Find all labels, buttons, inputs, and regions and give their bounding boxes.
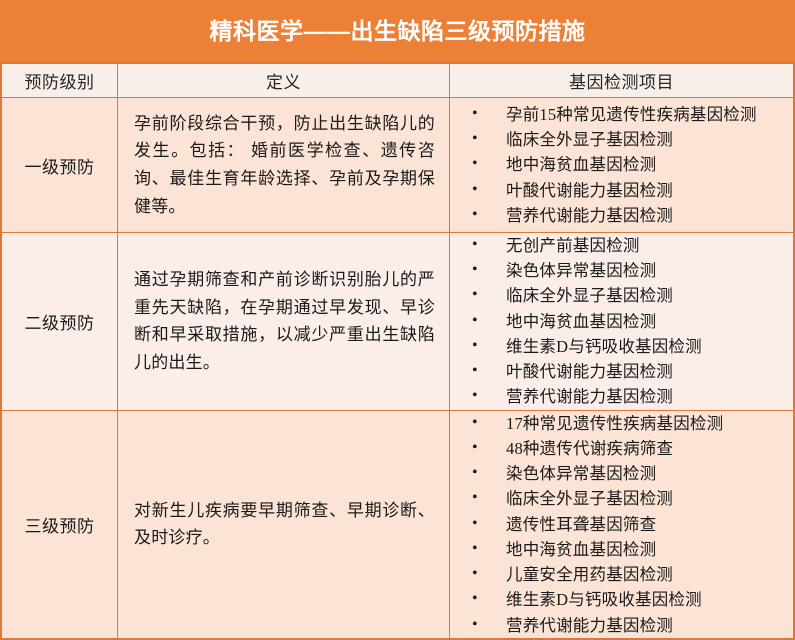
list-item: •营养代谢能力基因检测 <box>458 613 787 638</box>
list-item-label: 儿童安全用药基因检测 <box>506 565 673 584</box>
list-item-label: 营养代谢能力基因检测 <box>506 616 673 635</box>
list-item-label: 营养代谢能力基因检测 <box>506 387 673 406</box>
list-item: •遗传性耳聋基因筛查 <box>458 512 787 537</box>
row-definition-cell: 通过孕期筛查和产前诊断识别胎儿的严重先天缺陷，在孕期通过早发现、早诊断和早采取措… <box>118 233 450 410</box>
bullet-icon: • <box>472 562 478 586</box>
bullet-icon: • <box>472 461 478 485</box>
list-item-label: 临床全外显子基因检测 <box>506 286 673 305</box>
list-item: •染色体异常基因检测 <box>458 461 787 486</box>
bullet-icon: • <box>472 486 478 510</box>
list-item-label: 地中海贫血基因检测 <box>506 155 656 174</box>
bullet-icon: • <box>472 233 478 257</box>
list-item: •染色体异常基因检测 <box>458 258 787 283</box>
column-header-items: 基因检测项目 <box>450 64 793 97</box>
list-item: •维生素D与钙吸收基因检测 <box>458 334 787 359</box>
bullet-icon: • <box>472 512 478 536</box>
list-item-label: 叶酸代谢能力基因检测 <box>506 362 673 381</box>
list-item: •儿童安全用药基因检测 <box>458 562 787 587</box>
row-level-label: 二级预防 <box>2 233 118 410</box>
list-item: •17种常见遗传性疾病基因检测 <box>458 411 787 436</box>
list-item-label: 染色体异常基因检测 <box>506 261 656 280</box>
list-item-label: 地中海贫血基因检测 <box>506 312 656 331</box>
infographic-root: 精科医学——出生缺陷三级预防措施 预防级别 定义 基因检测项目 一级预防 孕前阶… <box>0 0 795 620</box>
table-row: 二级预防 通过孕期筛查和产前诊断识别胎儿的严重先天缺陷，在孕期通过早发现、早诊断… <box>2 233 793 411</box>
list-item: •地中海贫血基因检测 <box>458 152 787 177</box>
bullet-icon: • <box>472 203 478 227</box>
list-item: •地中海贫血基因检测 <box>458 309 787 334</box>
list-item-label: 地中海贫血基因检测 <box>506 540 656 559</box>
list-item-label: 无创产前基因检测 <box>506 236 640 255</box>
list-item: •维生素D与钙吸收基因检测 <box>458 587 787 612</box>
list-item: •临床全外显子基因检测 <box>458 127 787 152</box>
list-item: •地中海贫血基因检测 <box>458 537 787 562</box>
column-header-definition: 定义 <box>118 64 450 97</box>
list-item-label: 染色体异常基因检测 <box>506 464 656 483</box>
title-bar: 精科医学——出生缺陷三级预防措施 <box>0 0 795 62</box>
list-item: •营养代谢能力基因检测 <box>458 384 787 409</box>
list-item: •叶酸代谢能力基因检测 <box>458 359 787 384</box>
list-item: •孕前15种常见遗传性疾病基因检测 <box>458 102 787 127</box>
list-item-label: 48种遗传代谢疾病筛查 <box>506 439 673 458</box>
row-level-label: 一级预防 <box>2 98 118 232</box>
bullet-icon: • <box>472 127 478 151</box>
list-item: •叶酸代谢能力基因检测 <box>458 178 787 203</box>
list-item-label: 遗传性耳聋基因筛查 <box>506 515 656 534</box>
table-row: 一级预防 孕前阶段综合干预，防止出生缺陷儿的发生。包括： 婚前医学检查、遗传咨询… <box>2 98 793 233</box>
list-item: •临床全外显子基因检测 <box>458 486 787 511</box>
row-definition-text: 通过孕期筛查和产前诊断识别胎儿的严重先天缺陷，在孕期通过早发现、早诊断和早采取措… <box>134 266 435 376</box>
list-item: •营养代谢能力基因检测 <box>458 203 787 228</box>
row-definition-cell: 孕前阶段综合干预，防止出生缺陷儿的发生。包括： 婚前医学检查、遗传咨询、最佳生育… <box>118 98 450 232</box>
row-items-cell: •孕前15种常见遗传性疾病基因检测 •临床全外显子基因检测 •地中海贫血基因检测… <box>450 98 793 232</box>
bullet-icon: • <box>472 334 478 358</box>
gene-test-list: •无创产前基因检测 •染色体异常基因检测 •临床全外显子基因检测 •地中海贫血基… <box>458 233 787 410</box>
list-item-label: 维生素D与钙吸收基因检测 <box>506 590 702 609</box>
list-item-label: 临床全外显子基因检测 <box>506 489 673 508</box>
list-item-label: 临床全外显子基因检测 <box>506 130 673 149</box>
list-item: •无创产前基因检测 <box>458 233 787 258</box>
bullet-icon: • <box>472 309 478 333</box>
bullet-icon: • <box>472 436 478 460</box>
table-header-row: 预防级别 定义 基因检测项目 <box>2 64 793 98</box>
bullet-icon: • <box>472 411 478 435</box>
row-definition-text: 孕前阶段综合干预，防止出生缺陷儿的发生。包括： 婚前医学检查、遗传咨询、最佳生育… <box>134 110 435 220</box>
page-title: 精科医学——出生缺陷三级预防措施 <box>210 20 586 43</box>
table-row: 三级预防 对新生儿疾病要早期筛查、早期诊断、及时诊疗。 •17种常见遗传性疾病基… <box>2 411 793 638</box>
list-item: •临床全外显子基因检测 <box>458 283 787 308</box>
bullet-icon: • <box>472 613 478 637</box>
bullet-icon: • <box>472 258 478 282</box>
bullet-icon: • <box>472 537 478 561</box>
bullet-icon: • <box>472 178 478 202</box>
gene-test-list: •17种常见遗传性疾病基因检测 •48种遗传代谢疾病筛查 •染色体异常基因检测 … <box>458 411 787 638</box>
prevention-table: 预防级别 定义 基因检测项目 一级预防 孕前阶段综合干预，防止出生缺陷儿的发生。… <box>0 62 795 640</box>
row-definition-text: 对新生儿疾病要早期筛查、早期诊断、及时诊疗。 <box>134 497 435 552</box>
row-definition-cell: 对新生儿疾病要早期筛查、早期诊断、及时诊疗。 <box>118 411 450 638</box>
bullet-icon: • <box>472 283 478 307</box>
bullet-icon: • <box>472 152 478 176</box>
bullet-icon: • <box>472 359 478 383</box>
gene-test-list: •孕前15种常见遗传性疾病基因检测 •临床全外显子基因检测 •地中海贫血基因检测… <box>458 102 787 228</box>
list-item: •48种遗传代谢疾病筛查 <box>458 436 787 461</box>
row-items-cell: •无创产前基因检测 •染色体异常基因检测 •临床全外显子基因检测 •地中海贫血基… <box>450 233 793 410</box>
row-level-label: 三级预防 <box>2 411 118 638</box>
list-item-label: 孕前15种常见遗传性疾病基因检测 <box>506 105 757 124</box>
bullet-icon: • <box>472 587 478 611</box>
bullet-icon: • <box>472 384 478 408</box>
list-item-label: 叶酸代谢能力基因检测 <box>506 181 673 200</box>
list-item-label: 维生素D与钙吸收基因检测 <box>506 337 702 356</box>
row-items-cell: •17种常见遗传性疾病基因检测 •48种遗传代谢疾病筛查 •染色体异常基因检测 … <box>450 411 793 638</box>
column-header-level: 预防级别 <box>2 64 118 97</box>
list-item-label: 营养代谢能力基因检测 <box>506 206 673 225</box>
list-item-label: 17种常见遗传性疾病基因检测 <box>506 414 723 433</box>
bullet-icon: • <box>472 102 478 126</box>
